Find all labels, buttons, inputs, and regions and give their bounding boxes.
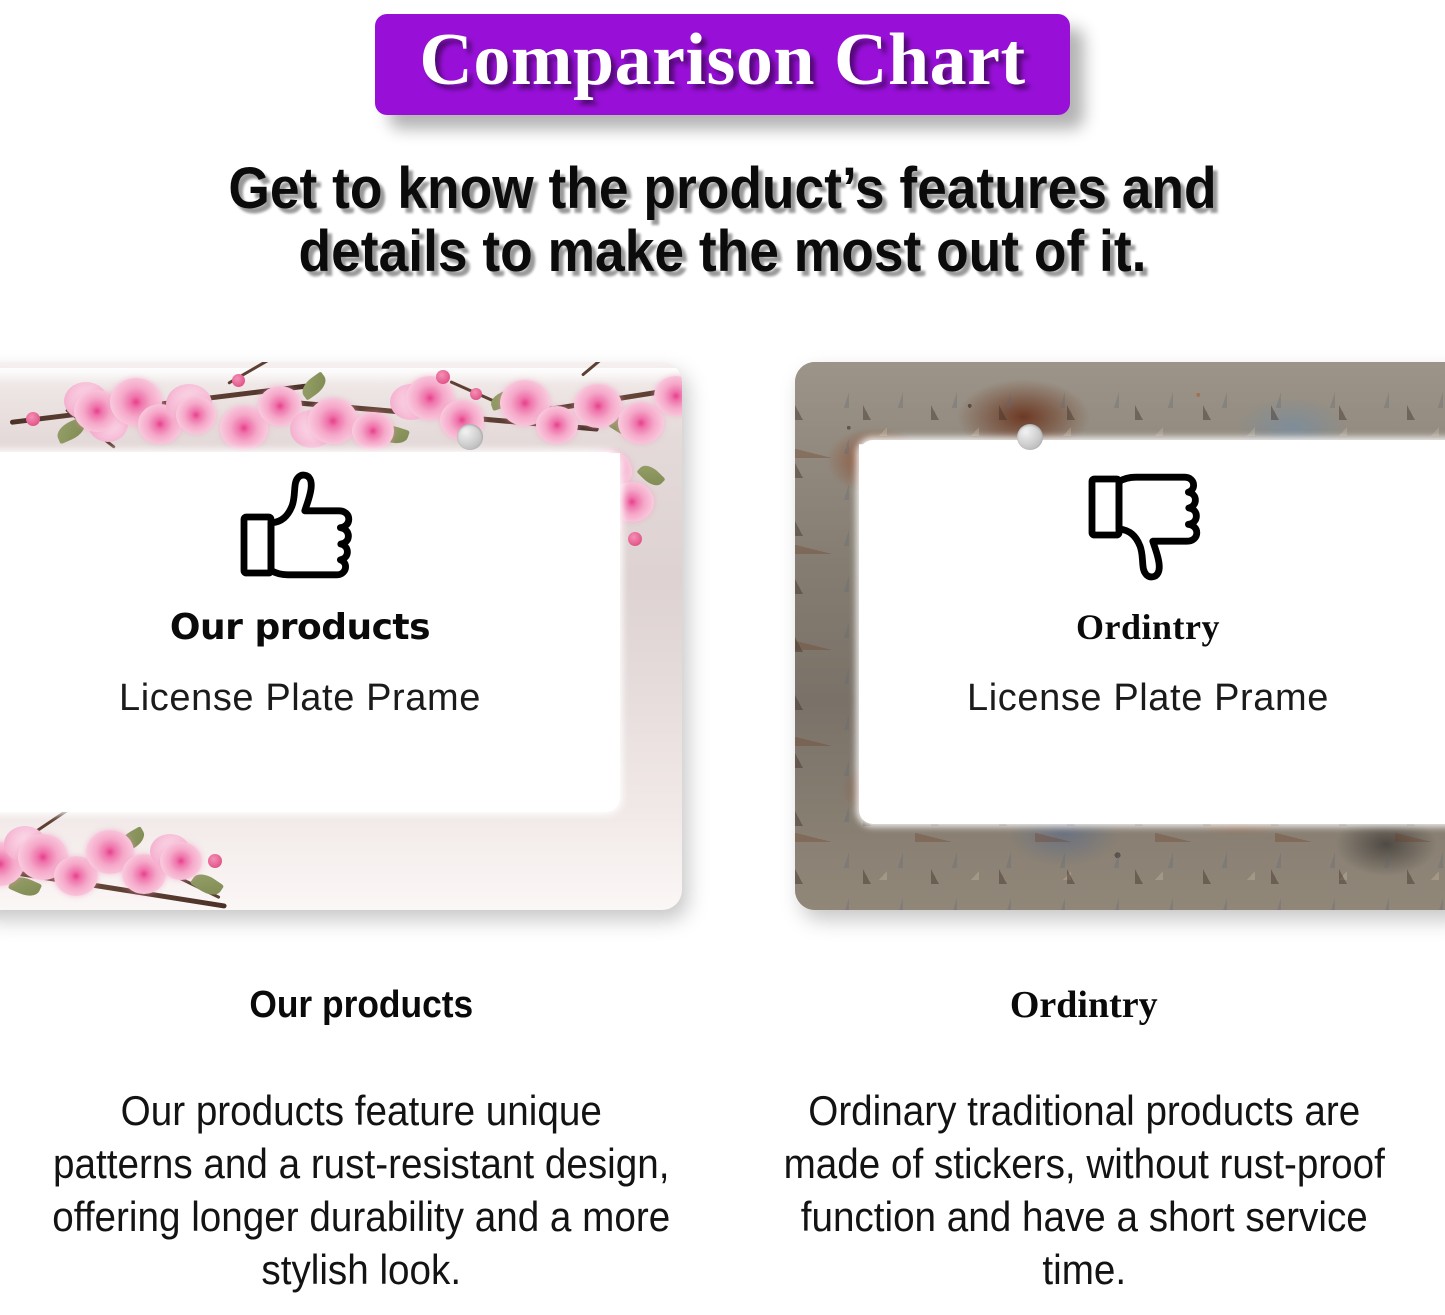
description-columns: Our products Our products feature unique… <box>0 985 1445 1315</box>
description-text-ordinary: Ordinary traditional products are made o… <box>773 1085 1394 1297</box>
mounting-hole <box>457 424 483 450</box>
card-heading-ordinary: Ordintry <box>848 608 1445 648</box>
thumbs-down-icon <box>1086 468 1210 584</box>
description-column-ordinary: Ordintry Ordinary traditional products a… <box>723 985 1445 1315</box>
title-banner: Comparison Chart <box>375 14 1069 115</box>
page-title: Comparison Chart <box>419 20 1025 101</box>
description-title-ordinary: Ordintry <box>747 985 1422 1027</box>
card-heading-ours: Our products <box>0 608 600 648</box>
title-banner-wrapper: Comparison Chart <box>0 14 1445 115</box>
subtitle-line-1: Get to know the product’s features and <box>159 158 1286 221</box>
product-card-ours: Our products License Plate Prame <box>0 468 600 719</box>
mounting-hole <box>1017 424 1043 450</box>
blossom-band-bottom <box>0 808 682 910</box>
description-title-ours: Our products <box>48 985 675 1027</box>
subtitle: Get to know the product’s features and d… <box>58 158 1387 283</box>
subtitle-line-2: details to make the most out of it. <box>159 221 1286 284</box>
thumbs-up-icon <box>238 468 362 584</box>
description-text-ours: Our products feature unique patterns and… <box>51 1085 672 1297</box>
card-subheading-ours: License Plate Prame <box>0 678 600 720</box>
product-card-ordinary: Ordintry License Plate Prame <box>848 468 1445 719</box>
blossom-band-top <box>0 362 682 458</box>
card-subheading-ordinary: License Plate Prame <box>848 678 1445 720</box>
description-column-ours: Our products Our products feature unique… <box>0 985 723 1315</box>
